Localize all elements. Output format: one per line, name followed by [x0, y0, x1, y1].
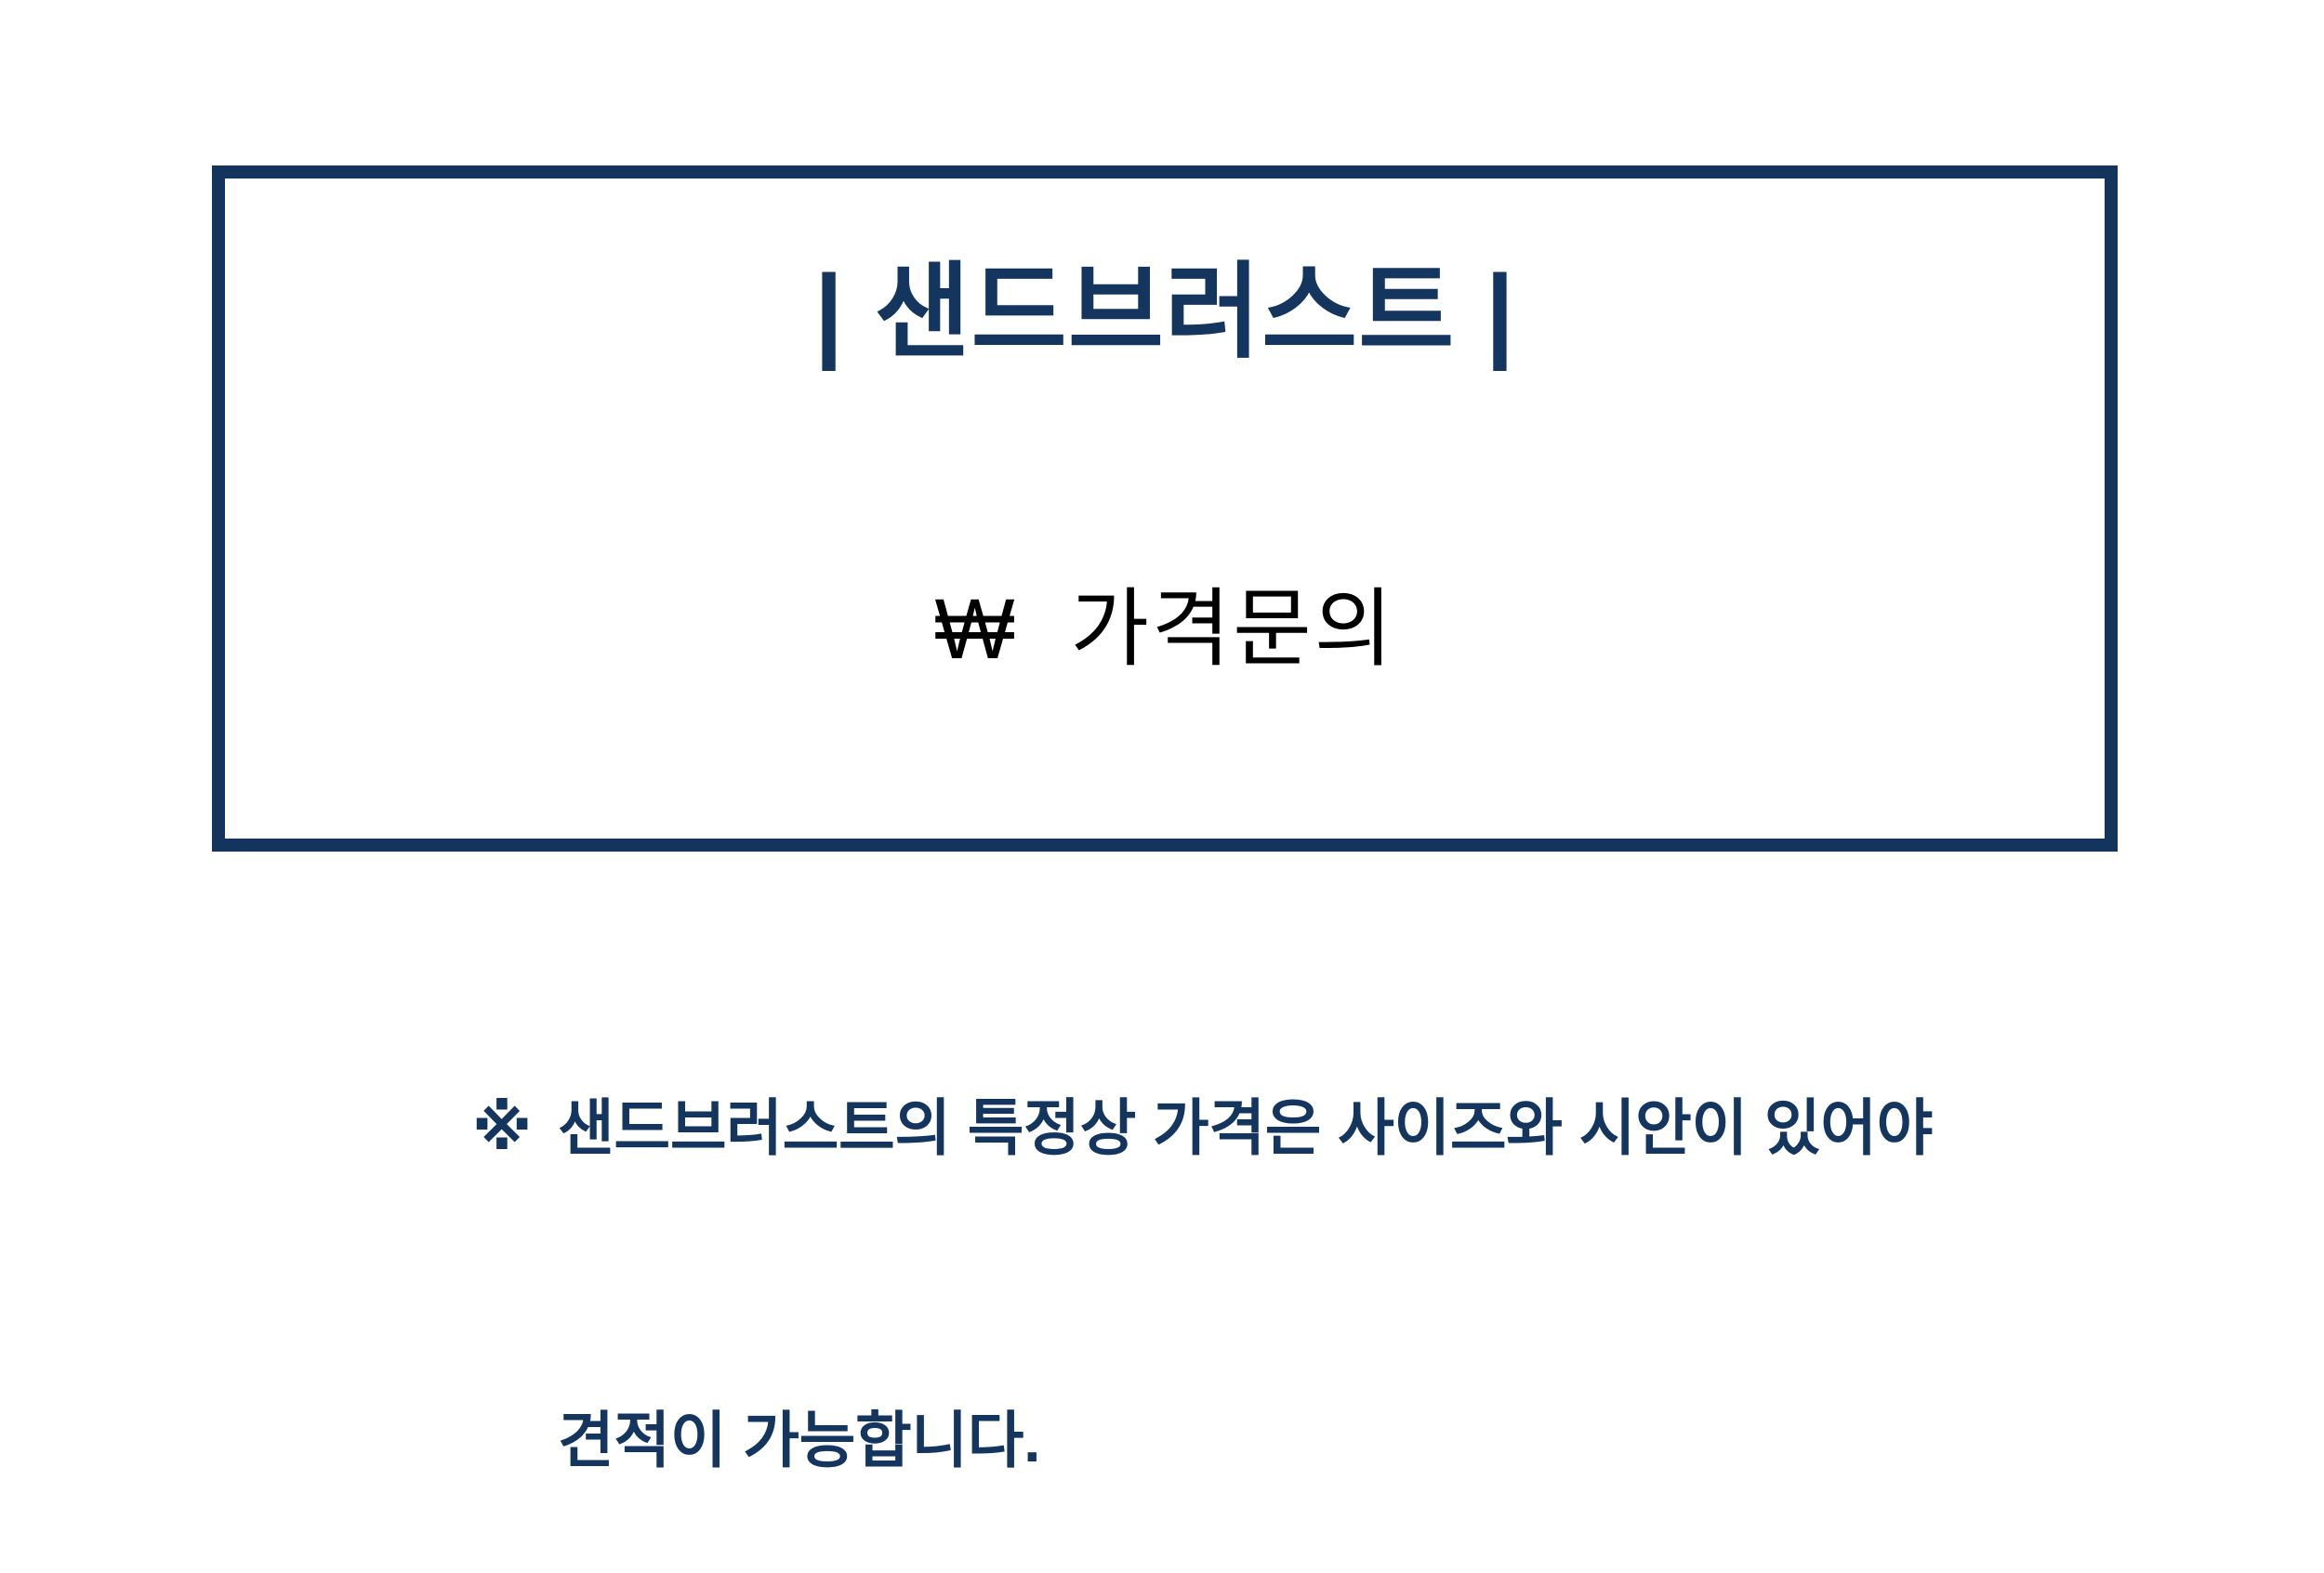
note-line: ※샌드브러스트의 특정상 가격은 사이즈와 시안이 있어야 [372, 972, 2138, 1284]
price-inquiry-label: ₩ 가격문의 [225, 578, 2105, 681]
hero-framed-box: | 샌드브러스트 | ₩ 가격문의 [212, 165, 2118, 852]
hero-inner: | 샌드브러스트 | ₩ 가격문의 [225, 178, 2105, 839]
page-title: | 샌드브러스트 | [225, 251, 2105, 374]
note-line: 견적이 가능합니다. [372, 1284, 2138, 1573]
note-text: 견적이 가능합니다. [558, 1406, 1040, 1474]
page-root: | 샌드브러스트 | ₩ 가격문의 ※샌드브러스트의 특정상 가격은 사이즈와 … [0, 0, 2324, 1573]
notes-block: ※샌드브러스트의 특정상 가격은 사이즈와 시안이 있어야 견적이 가능합니다.… [372, 972, 2138, 1573]
reference-mark-icon: ※ [472, 1076, 558, 1180]
note-text: 샌드브러스트의 특정상 가격은 사이즈와 시안이 있어야 [558, 1093, 1933, 1162]
